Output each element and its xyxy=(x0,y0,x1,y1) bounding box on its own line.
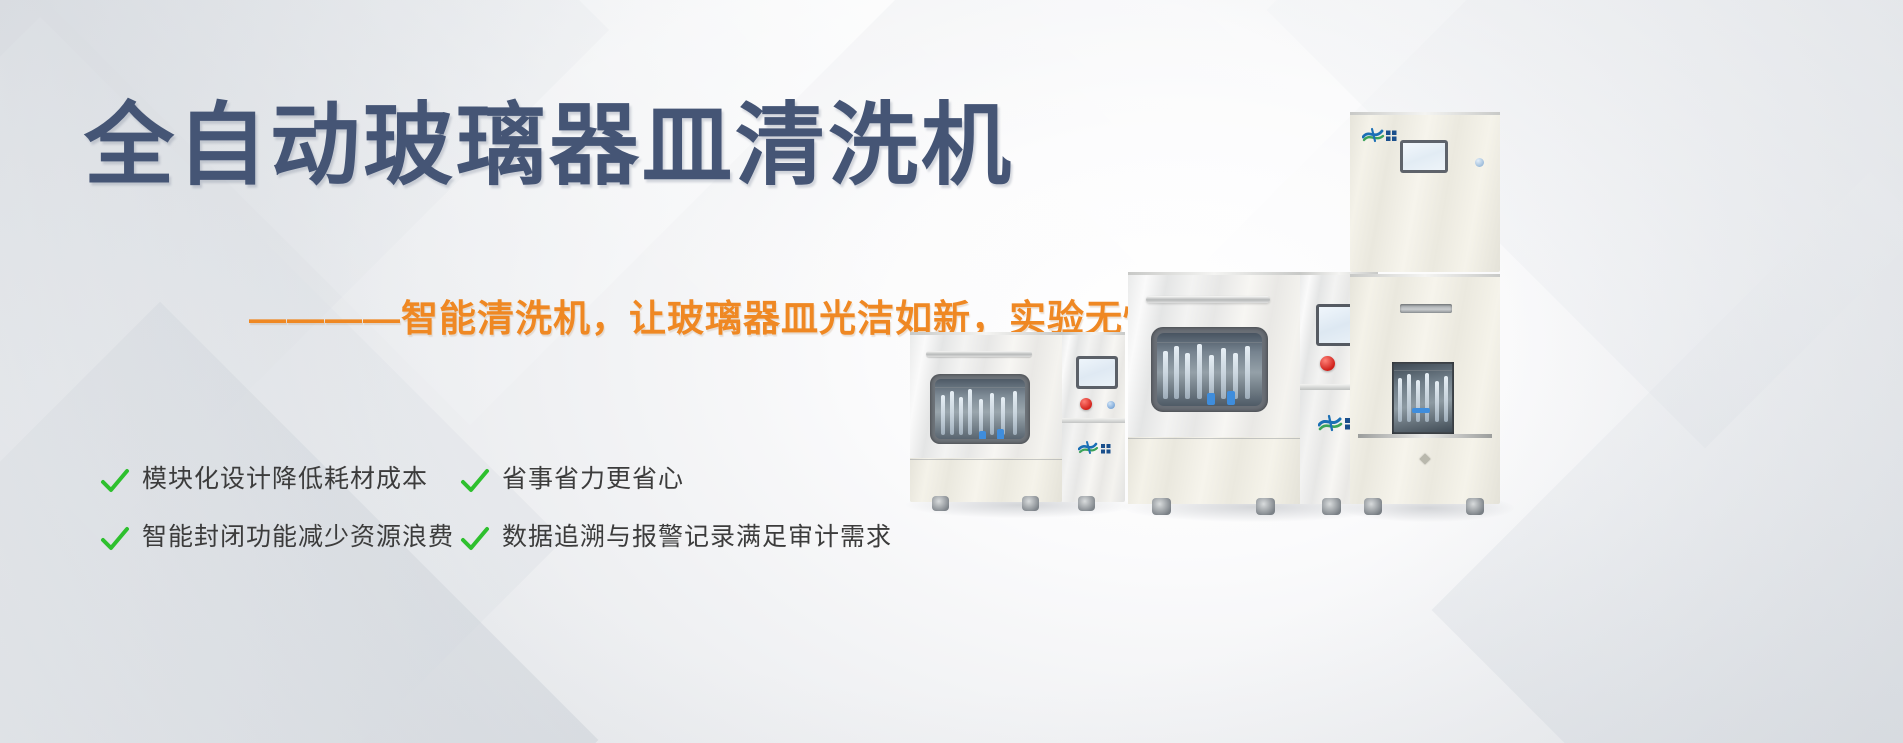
feature-row: 智能封闭功能减少资源浪费 数据追溯与报警记录满足审计需求 xyxy=(100,524,980,552)
caster-wheel xyxy=(1364,498,1382,515)
cabinet-upper-section xyxy=(1350,112,1500,272)
door-lock xyxy=(1419,453,1430,464)
promo-banner: 全自动玻璃器皿清洗机 ————智能清洗机，让玻璃器皿光洁如新，实验无忧！ 模块化… xyxy=(0,0,1903,743)
glassware-rack xyxy=(1394,364,1452,432)
check-icon xyxy=(100,467,130,495)
glassware-rack xyxy=(935,379,1025,439)
emergency-stop-button[interactable] xyxy=(1320,356,1335,371)
feature-label: 模块化设计降低耗材成本 xyxy=(142,466,428,494)
touchscreen-panel[interactable] xyxy=(1076,356,1118,389)
check-icon xyxy=(460,467,490,495)
control-column xyxy=(1062,332,1125,502)
check-icon xyxy=(100,525,130,553)
caster-wheel xyxy=(1078,496,1095,511)
caster-wheel xyxy=(1256,498,1275,515)
caster-wheel xyxy=(1466,498,1484,515)
viewing-window xyxy=(1392,362,1454,434)
product-image-tall-cabinet-washer xyxy=(1350,112,1500,504)
door-handle xyxy=(1358,434,1492,438)
caster-wheel xyxy=(1022,496,1039,511)
check-icon xyxy=(460,525,490,553)
door-handle xyxy=(1146,296,1270,303)
cabinet-lower-section xyxy=(1350,274,1500,504)
feature-label: 智能封闭功能减少资源浪费 xyxy=(142,524,454,552)
washer-body xyxy=(910,332,1062,502)
product-image-undercounter-washer xyxy=(910,332,1125,502)
viewing-window xyxy=(1151,327,1268,412)
caster-wheel xyxy=(932,496,949,511)
caster-wheel xyxy=(1322,498,1341,515)
feature-label: 省事省力更省心 xyxy=(502,466,684,494)
indicator-light xyxy=(1107,401,1115,409)
washer-lower-door xyxy=(1128,437,1300,504)
list-item: 数据追溯与报警记录满足审计需求 xyxy=(460,524,892,552)
dispenser-slot xyxy=(1400,304,1452,313)
viewing-window xyxy=(930,374,1030,444)
product-image-group xyxy=(880,0,1903,743)
page-title: 全自动玻璃器皿清洗机 xyxy=(84,101,1014,191)
list-item: 模块化设计降低耗材成本 xyxy=(100,466,460,494)
product-image-benchtop-washer xyxy=(1128,272,1378,504)
feature-label: 数据追溯与报警记录满足审计需求 xyxy=(502,524,892,552)
washer-body xyxy=(1128,272,1300,504)
brand-logo xyxy=(1078,440,1112,460)
indicator-light xyxy=(1475,158,1484,167)
list-item: 省事省力更省心 xyxy=(460,466,684,494)
panel-seam xyxy=(1062,418,1125,423)
caster-wheel xyxy=(1152,498,1171,515)
washer-lower-door xyxy=(910,458,1062,502)
brand-logo xyxy=(1362,127,1398,148)
feature-row: 模块化设计降低耗材成本 省事省力更省心 xyxy=(100,466,980,494)
feature-list: 模块化设计降低耗材成本 省事省力更省心 xyxy=(100,466,980,582)
emergency-stop-button[interactable] xyxy=(1080,398,1092,410)
touchscreen-panel[interactable] xyxy=(1400,140,1448,173)
door-handle xyxy=(926,351,1032,357)
glassware-rack xyxy=(1157,333,1262,406)
list-item: 智能封闭功能减少资源浪费 xyxy=(100,524,460,552)
